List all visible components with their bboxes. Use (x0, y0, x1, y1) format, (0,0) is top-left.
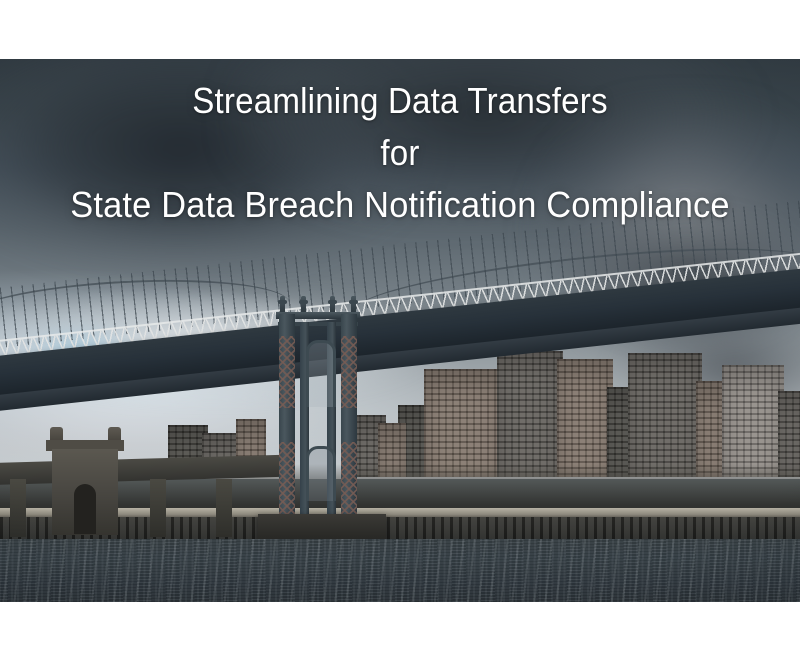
approach-pier (150, 479, 166, 537)
tower-arch (306, 446, 336, 501)
tower-arch (306, 340, 336, 407)
manhattan-bridge (0, 59, 800, 602)
approach-pier (10, 479, 26, 537)
approach-pier (216, 479, 232, 537)
anchorage-arch-opening (74, 484, 96, 534)
tower-x-bracing (341, 336, 357, 408)
top-white-margin (0, 0, 800, 59)
manhattan-bridge-photo: Streamlining Data Transfers for State Da… (0, 59, 800, 602)
tower-x-bracing (279, 336, 295, 408)
bottom-white-margin (0, 602, 800, 664)
bridge-approach-viaduct (0, 455, 280, 485)
water-reflections (0, 539, 800, 602)
tower-x-bracing (279, 442, 295, 522)
bridge-tower (276, 296, 360, 531)
poster-canvas: Streamlining Data Transfers for State Da… (0, 0, 800, 664)
tower-x-bracing (341, 442, 357, 522)
